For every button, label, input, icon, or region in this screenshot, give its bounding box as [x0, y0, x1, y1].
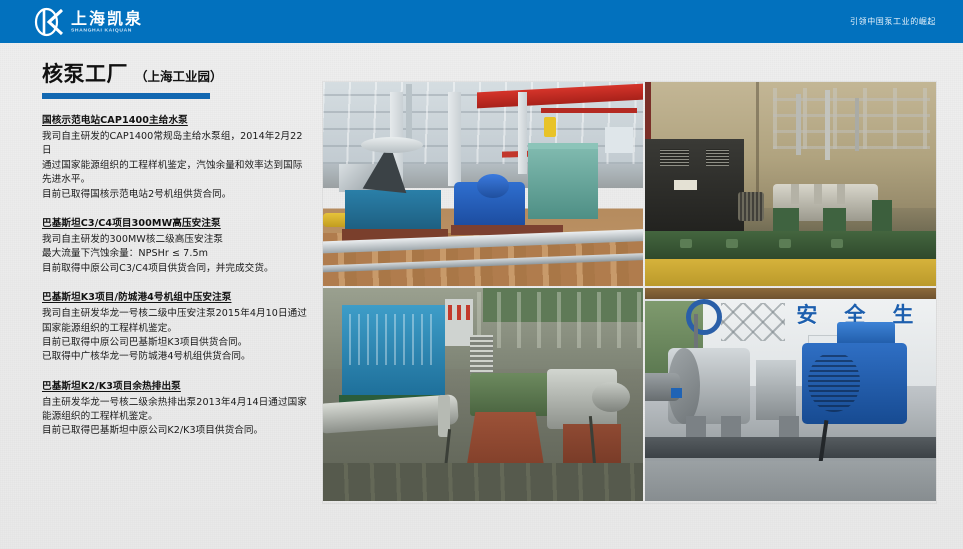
text-block: 巴基斯坦C3/C4项目300MW高压安注泵 我司自主研发的300MW核二级高压安… [42, 215, 310, 276]
block-line: 我司自主研发的300MW核二级高压安注泵 [42, 233, 310, 247]
wall-slogan-char: 生 [892, 299, 914, 329]
block-line: 最大流量下汽蚀余量：NPSHr ≤ 7.5m [42, 247, 310, 261]
block-line: 自主研发华龙一号核二级余热排出泵2013年4月14日通过国家 [42, 396, 310, 410]
content-left-column: 核泵工厂 （上海工业园） 国核示范电站CAP1400主给水泵 我司自主研发的CA… [42, 58, 310, 439]
header-tagline: 引领中国泵工业的崛起 [850, 0, 936, 43]
text-block: 巴基斯坦K3项目/防城港4号机组中压安注泵 我司自主研发华龙一号核二级中压安注泵… [42, 289, 310, 365]
photo-outdoor-test-blue-motor: 安 全 生 [645, 288, 936, 501]
header-bar: 上海凯泉 SHANGHAI KAIQUAN 引领中国泵工业的崛起 [0, 0, 963, 43]
text-block: 国核示范电站CAP1400主给水泵 我司自主研发的CAP1400常规岛主给水泵组… [42, 112, 310, 202]
block-line: 目前取得中原公司C3/C4项目供货合同，并完成交货。 [42, 262, 310, 276]
brand-logo[interactable]: 上海凯泉 SHANGHAI KAIQUAN [34, 7, 143, 37]
block-line: 目前已取得国核示范电站2号机组供货合同。 [42, 188, 310, 202]
block-line: 已取得中广核华龙一号防城港4号机组供货合同。 [42, 350, 310, 364]
logo-company-en: SHANGHAI KAIQUAN [71, 29, 143, 34]
slide-root: 上海凯泉 SHANGHAI KAIQUAN 引领中国泵工业的崛起 核泵工厂 （上… [0, 0, 963, 549]
page-title: 核泵工厂 （上海工业园） [42, 58, 310, 88]
block-heading: 国核示范电站CAP1400主给水泵 [42, 112, 310, 126]
block-line: 先进水平。 [42, 173, 310, 187]
photo-test-bench-dark-motor [645, 82, 936, 286]
kaiquan-k-logo-icon [34, 7, 66, 37]
block-line: 通过国家能源组织的工程样机鉴定，汽蚀余量和效率达到国际 [42, 159, 310, 173]
block-heading: 巴基斯坦K3项目/防城港4号机组中压安注泵 [42, 289, 310, 303]
logo-company-cn: 上海凯泉 [71, 11, 143, 27]
block-line: 我司自主研发的CAP1400常规岛主给水泵组，2014年2月22日 [42, 130, 310, 159]
block-heading: 巴基斯坦C3/C4项目300MW高压安注泵 [42, 215, 310, 229]
text-block: 巴基斯坦K2/K3项目余热排出泵 自主研发华龙一号核二级余热排出泵2013年4月… [42, 378, 310, 439]
block-heading: 巴基斯坦K2/K3项目余热排出泵 [42, 378, 310, 392]
page-title-sub: （上海工业园） [135, 66, 223, 85]
photo-grid: 安 全 生 [323, 82, 936, 503]
wall-slogan-char: 安 [796, 299, 818, 329]
block-line: 国家能源组织的工程样机鉴定。 [42, 322, 310, 336]
block-line: 目前已取得中原公司巴基斯坦K3项目供货合同。 [42, 336, 310, 350]
photo-factory-hall-feedwater-pump [323, 82, 643, 286]
title-underline-rule [42, 93, 210, 99]
page-title-main: 核泵工厂 [42, 58, 128, 88]
photo-blue-motor-pump-skid [323, 288, 643, 501]
block-line: 目前已取得巴基斯坦中原公司K2/K3项目供货合同。 [42, 424, 310, 438]
block-line: 能源组织的工程样机鉴定。 [42, 410, 310, 424]
block-line: 我司自主研发华龙一号核二级中压安注泵2015年4月10日通过 [42, 307, 310, 321]
